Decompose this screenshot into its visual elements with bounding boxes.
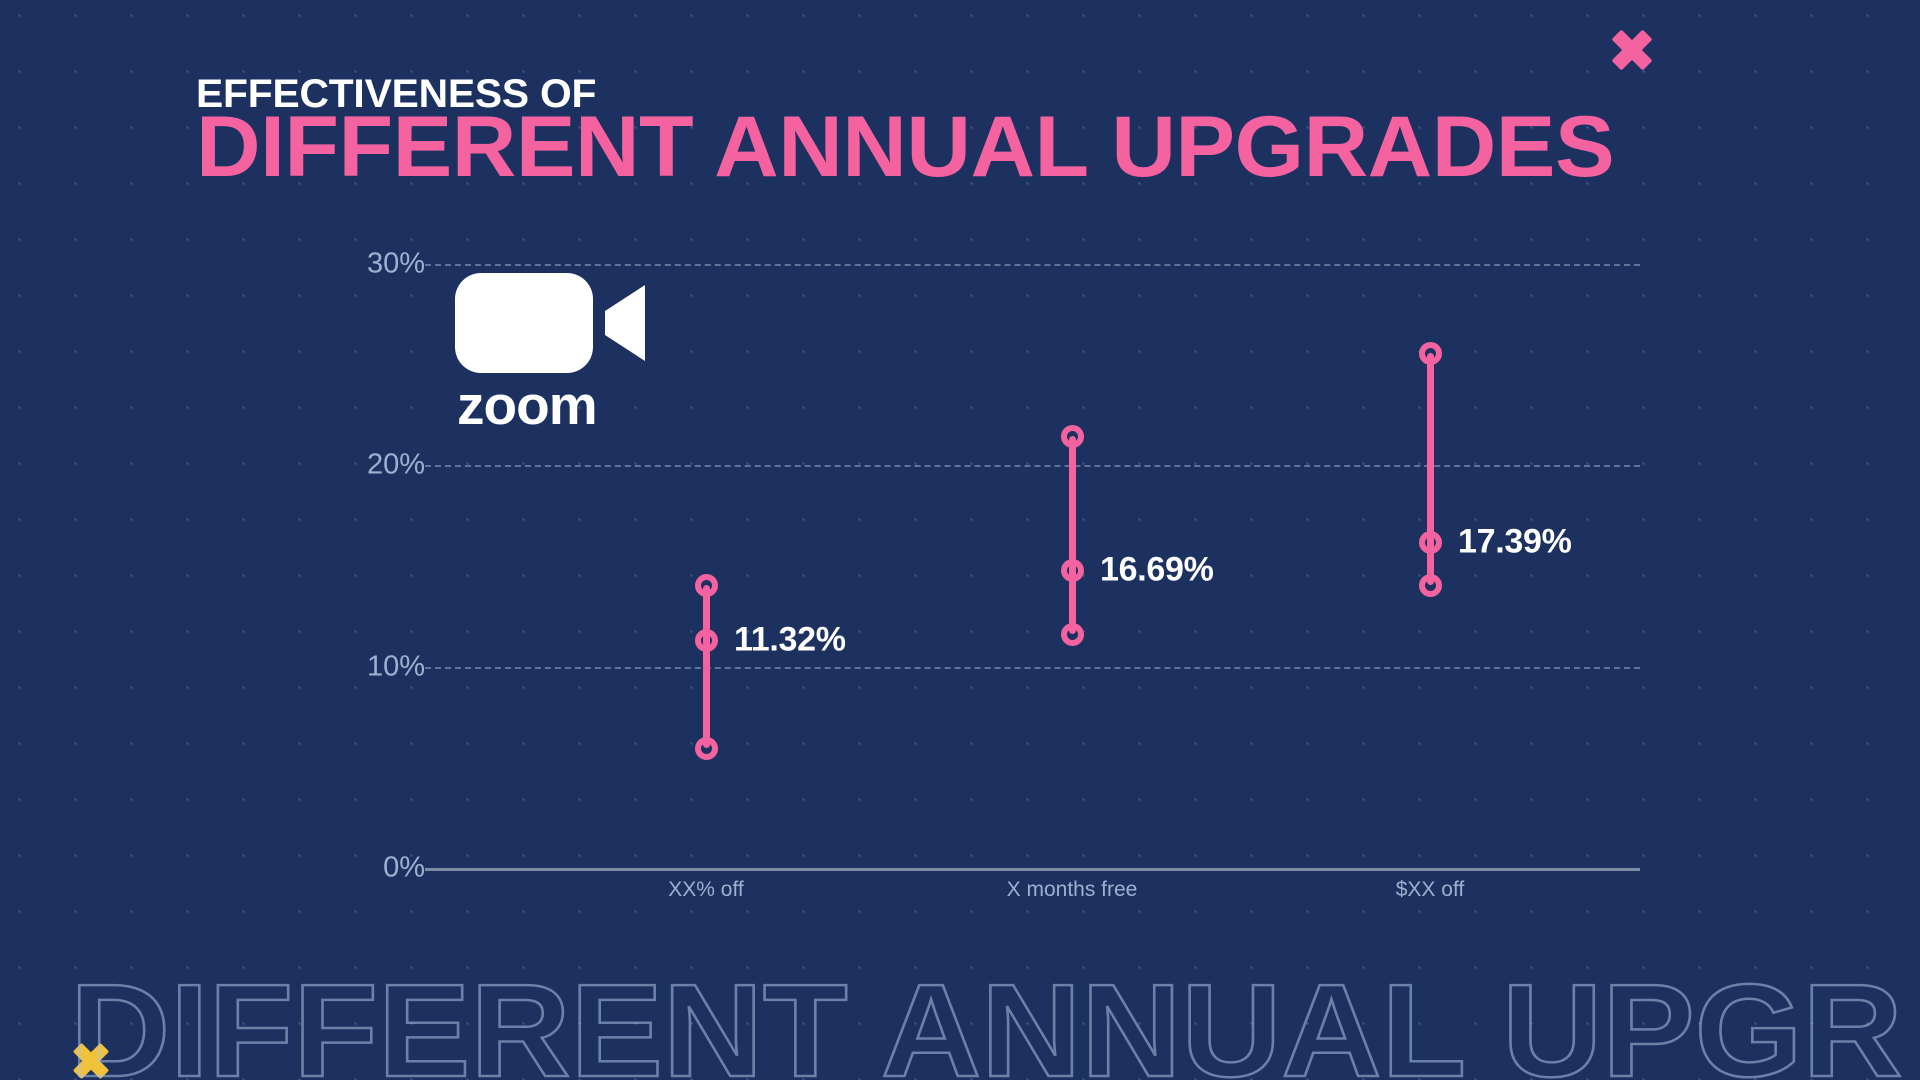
page-title-line-1: EFFECTIVENESS OF bbox=[196, 74, 596, 114]
zoom-video-camera-icon bbox=[455, 272, 655, 374]
range-marker-mid[interactable] bbox=[1419, 531, 1442, 554]
value-label: 11.32% bbox=[734, 621, 846, 660]
range-marker-high[interactable] bbox=[1419, 342, 1442, 365]
y-axis-label-0: 0% bbox=[305, 852, 425, 885]
x-mark-icon bbox=[1606, 24, 1658, 76]
x-axis-label-2: X months free bbox=[1007, 878, 1138, 902]
range-marker-low[interactable] bbox=[1061, 623, 1084, 646]
axis-line-0 bbox=[425, 868, 1640, 871]
range-stem bbox=[703, 585, 710, 748]
value-label: 17.39% bbox=[1458, 523, 1572, 562]
range-marker-low[interactable] bbox=[1419, 574, 1442, 597]
svg-text:zoom: zoom bbox=[457, 376, 597, 436]
y-axis-label-30: 30% bbox=[305, 248, 425, 281]
gridline-20 bbox=[425, 465, 1640, 467]
page-title: DIFFERENT ANNUAL UPGRADES EFFECTIVENESS … bbox=[196, 74, 1696, 214]
x-axis-label-3: $XX off bbox=[1396, 878, 1465, 902]
gridline-10 bbox=[425, 667, 1640, 669]
page-title-line-2: DIFFERENT ANNUAL UPGRADES bbox=[196, 104, 1614, 190]
range-stem bbox=[1069, 436, 1076, 634]
value-label: 16.69% bbox=[1100, 551, 1214, 590]
range-marker-mid[interactable] bbox=[695, 629, 718, 652]
range-marker-high[interactable] bbox=[695, 574, 718, 597]
zoom-wordmark: zoom bbox=[457, 376, 657, 436]
zoom-logo: zoom bbox=[455, 272, 655, 442]
y-axis-label-10: 10% bbox=[305, 651, 425, 684]
y-axis-label-20: 20% bbox=[305, 449, 425, 482]
x-mark-icon bbox=[68, 1038, 114, 1080]
bottom-outline-text: DIFFERENT ANNUAL UPGR bbox=[70, 965, 1903, 1080]
x-axis-label-1: XX% off bbox=[668, 878, 744, 902]
gridline-30 bbox=[425, 264, 1640, 266]
range-marker-high[interactable] bbox=[1061, 425, 1084, 448]
range-marker-low[interactable] bbox=[695, 737, 718, 760]
slide-canvas: DIFFERENT ANNUAL UPGRADES EFFECTIVENESS … bbox=[0, 0, 1920, 1080]
range-marker-mid[interactable] bbox=[1061, 559, 1084, 582]
